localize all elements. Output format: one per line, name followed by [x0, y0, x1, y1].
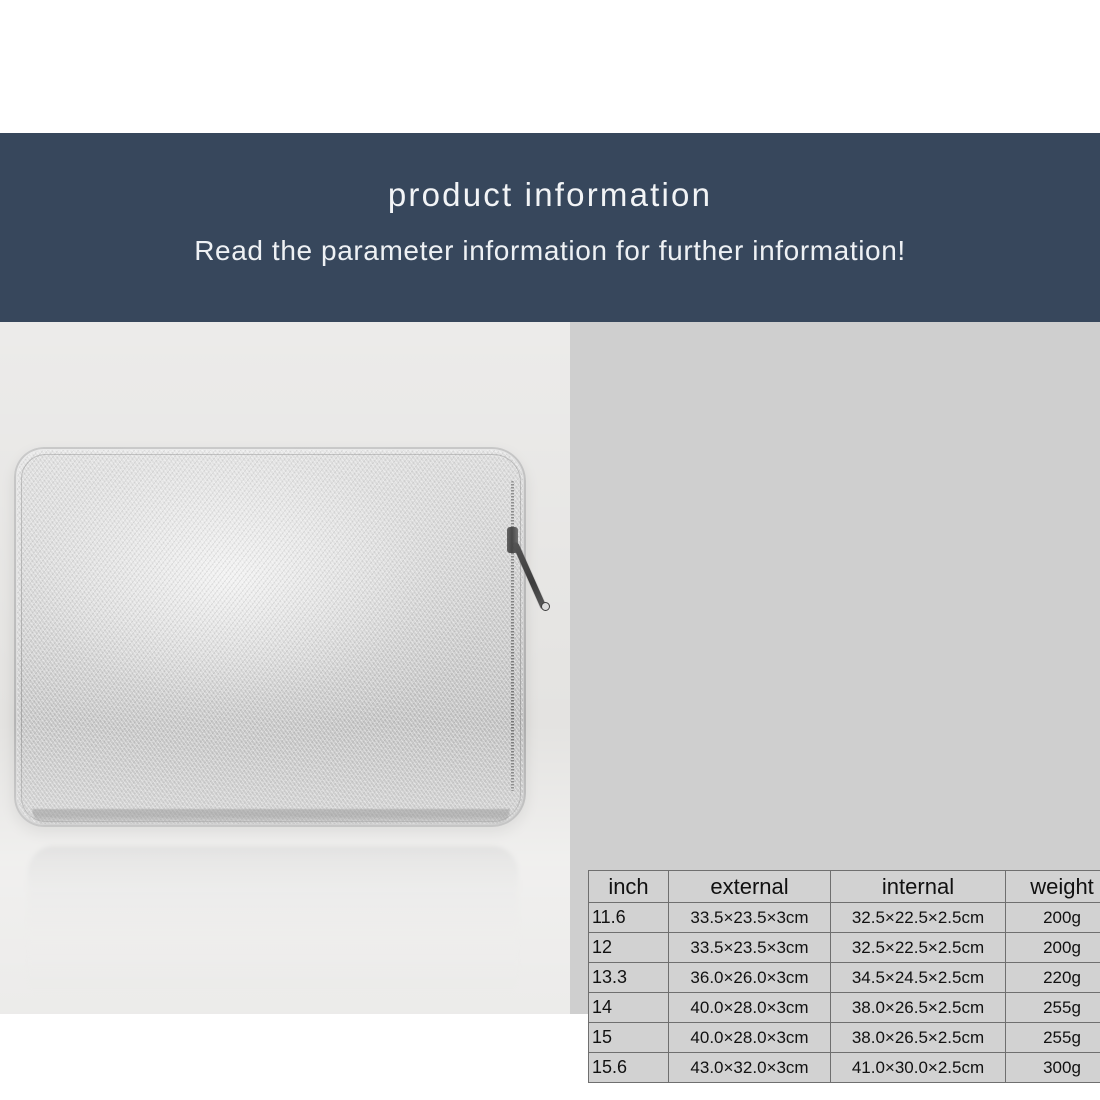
- cell-weight: 220g: [1006, 963, 1100, 993]
- column-header-external: external: [669, 871, 831, 903]
- cell-inch: 15.6: [589, 1053, 669, 1083]
- cell-internal: 41.0×30.0×2.5cm: [831, 1053, 1006, 1083]
- table-row: 12 33.5×23.5×3cm 32.5×22.5×2.5cm 200g: [589, 933, 1100, 963]
- cell-external: 33.5×23.5×3cm: [669, 933, 831, 963]
- cell-internal: 32.5×22.5×2.5cm: [831, 903, 1006, 933]
- column-header-inch: inch: [589, 871, 669, 903]
- cell-external: 33.5×23.5×3cm: [669, 903, 831, 933]
- cell-internal: 38.0×26.5×2.5cm: [831, 993, 1006, 1023]
- cell-external: 40.0×28.0×3cm: [669, 993, 831, 1023]
- table-row: 15.6 43.0×32.0×3cm 41.0×30.0×2.5cm 300g: [589, 1053, 1100, 1083]
- cell-internal: 38.0×26.5×2.5cm: [831, 1023, 1006, 1053]
- product-photo-panel: [0, 322, 570, 1014]
- content-area: inch external internal weight 11.6 33.5×…: [0, 322, 1100, 1014]
- table-row: 11.6 33.5×23.5×3cm 32.5×22.5×2.5cm 200g: [589, 903, 1100, 933]
- cell-external: 36.0×26.0×3cm: [669, 963, 831, 993]
- table-row: 13.3 36.0×26.0×3cm 34.5×24.5×2.5cm 220g: [589, 963, 1100, 993]
- product-reflection: [28, 846, 518, 996]
- table-row: 15 40.0×28.0×3cm 38.0×26.5×2.5cm 255g: [589, 1023, 1100, 1053]
- cell-weight: 200g: [1006, 903, 1100, 933]
- cell-weight: 255g: [1006, 993, 1100, 1023]
- table-header-row: inch external internal weight: [589, 871, 1100, 903]
- cell-inch: 12: [589, 933, 669, 963]
- cell-external: 40.0×28.0×3cm: [669, 1023, 831, 1053]
- table-row: 14 40.0×28.0×3cm 38.0×26.5×2.5cm 255g: [589, 993, 1100, 1023]
- sleeve-seam: [21, 454, 521, 822]
- page-title: product information: [0, 175, 1100, 215]
- cell-weight: 200g: [1006, 933, 1100, 963]
- cell-inch: 15: [589, 1023, 669, 1053]
- zipper-pull-ring-icon: [541, 602, 550, 611]
- cell-inch: 14: [589, 993, 669, 1023]
- sleeve-bottom-edge: [32, 809, 510, 825]
- cell-weight: 255g: [1006, 1023, 1100, 1053]
- column-header-internal: internal: [831, 871, 1006, 903]
- header-banner: product information Read the parameter i…: [0, 133, 1100, 322]
- cell-weight: 300g: [1006, 1053, 1100, 1083]
- cell-internal: 32.5×22.5×2.5cm: [831, 933, 1006, 963]
- cell-inch: 11.6: [589, 903, 669, 933]
- cell-external: 43.0×32.0×3cm: [669, 1053, 831, 1083]
- product-info-page: product information Read the parameter i…: [0, 0, 1100, 1100]
- sleeve-body: [14, 447, 526, 827]
- column-header-weight: weight: [1006, 871, 1100, 903]
- page-subtitle: Read the parameter information for furth…: [0, 233, 1100, 269]
- product-image-laptop-sleeve: [14, 447, 526, 837]
- specification-table: inch external internal weight 11.6 33.5×…: [588, 870, 1100, 1083]
- cell-internal: 34.5×24.5×2.5cm: [831, 963, 1006, 993]
- cell-inch: 13.3: [589, 963, 669, 993]
